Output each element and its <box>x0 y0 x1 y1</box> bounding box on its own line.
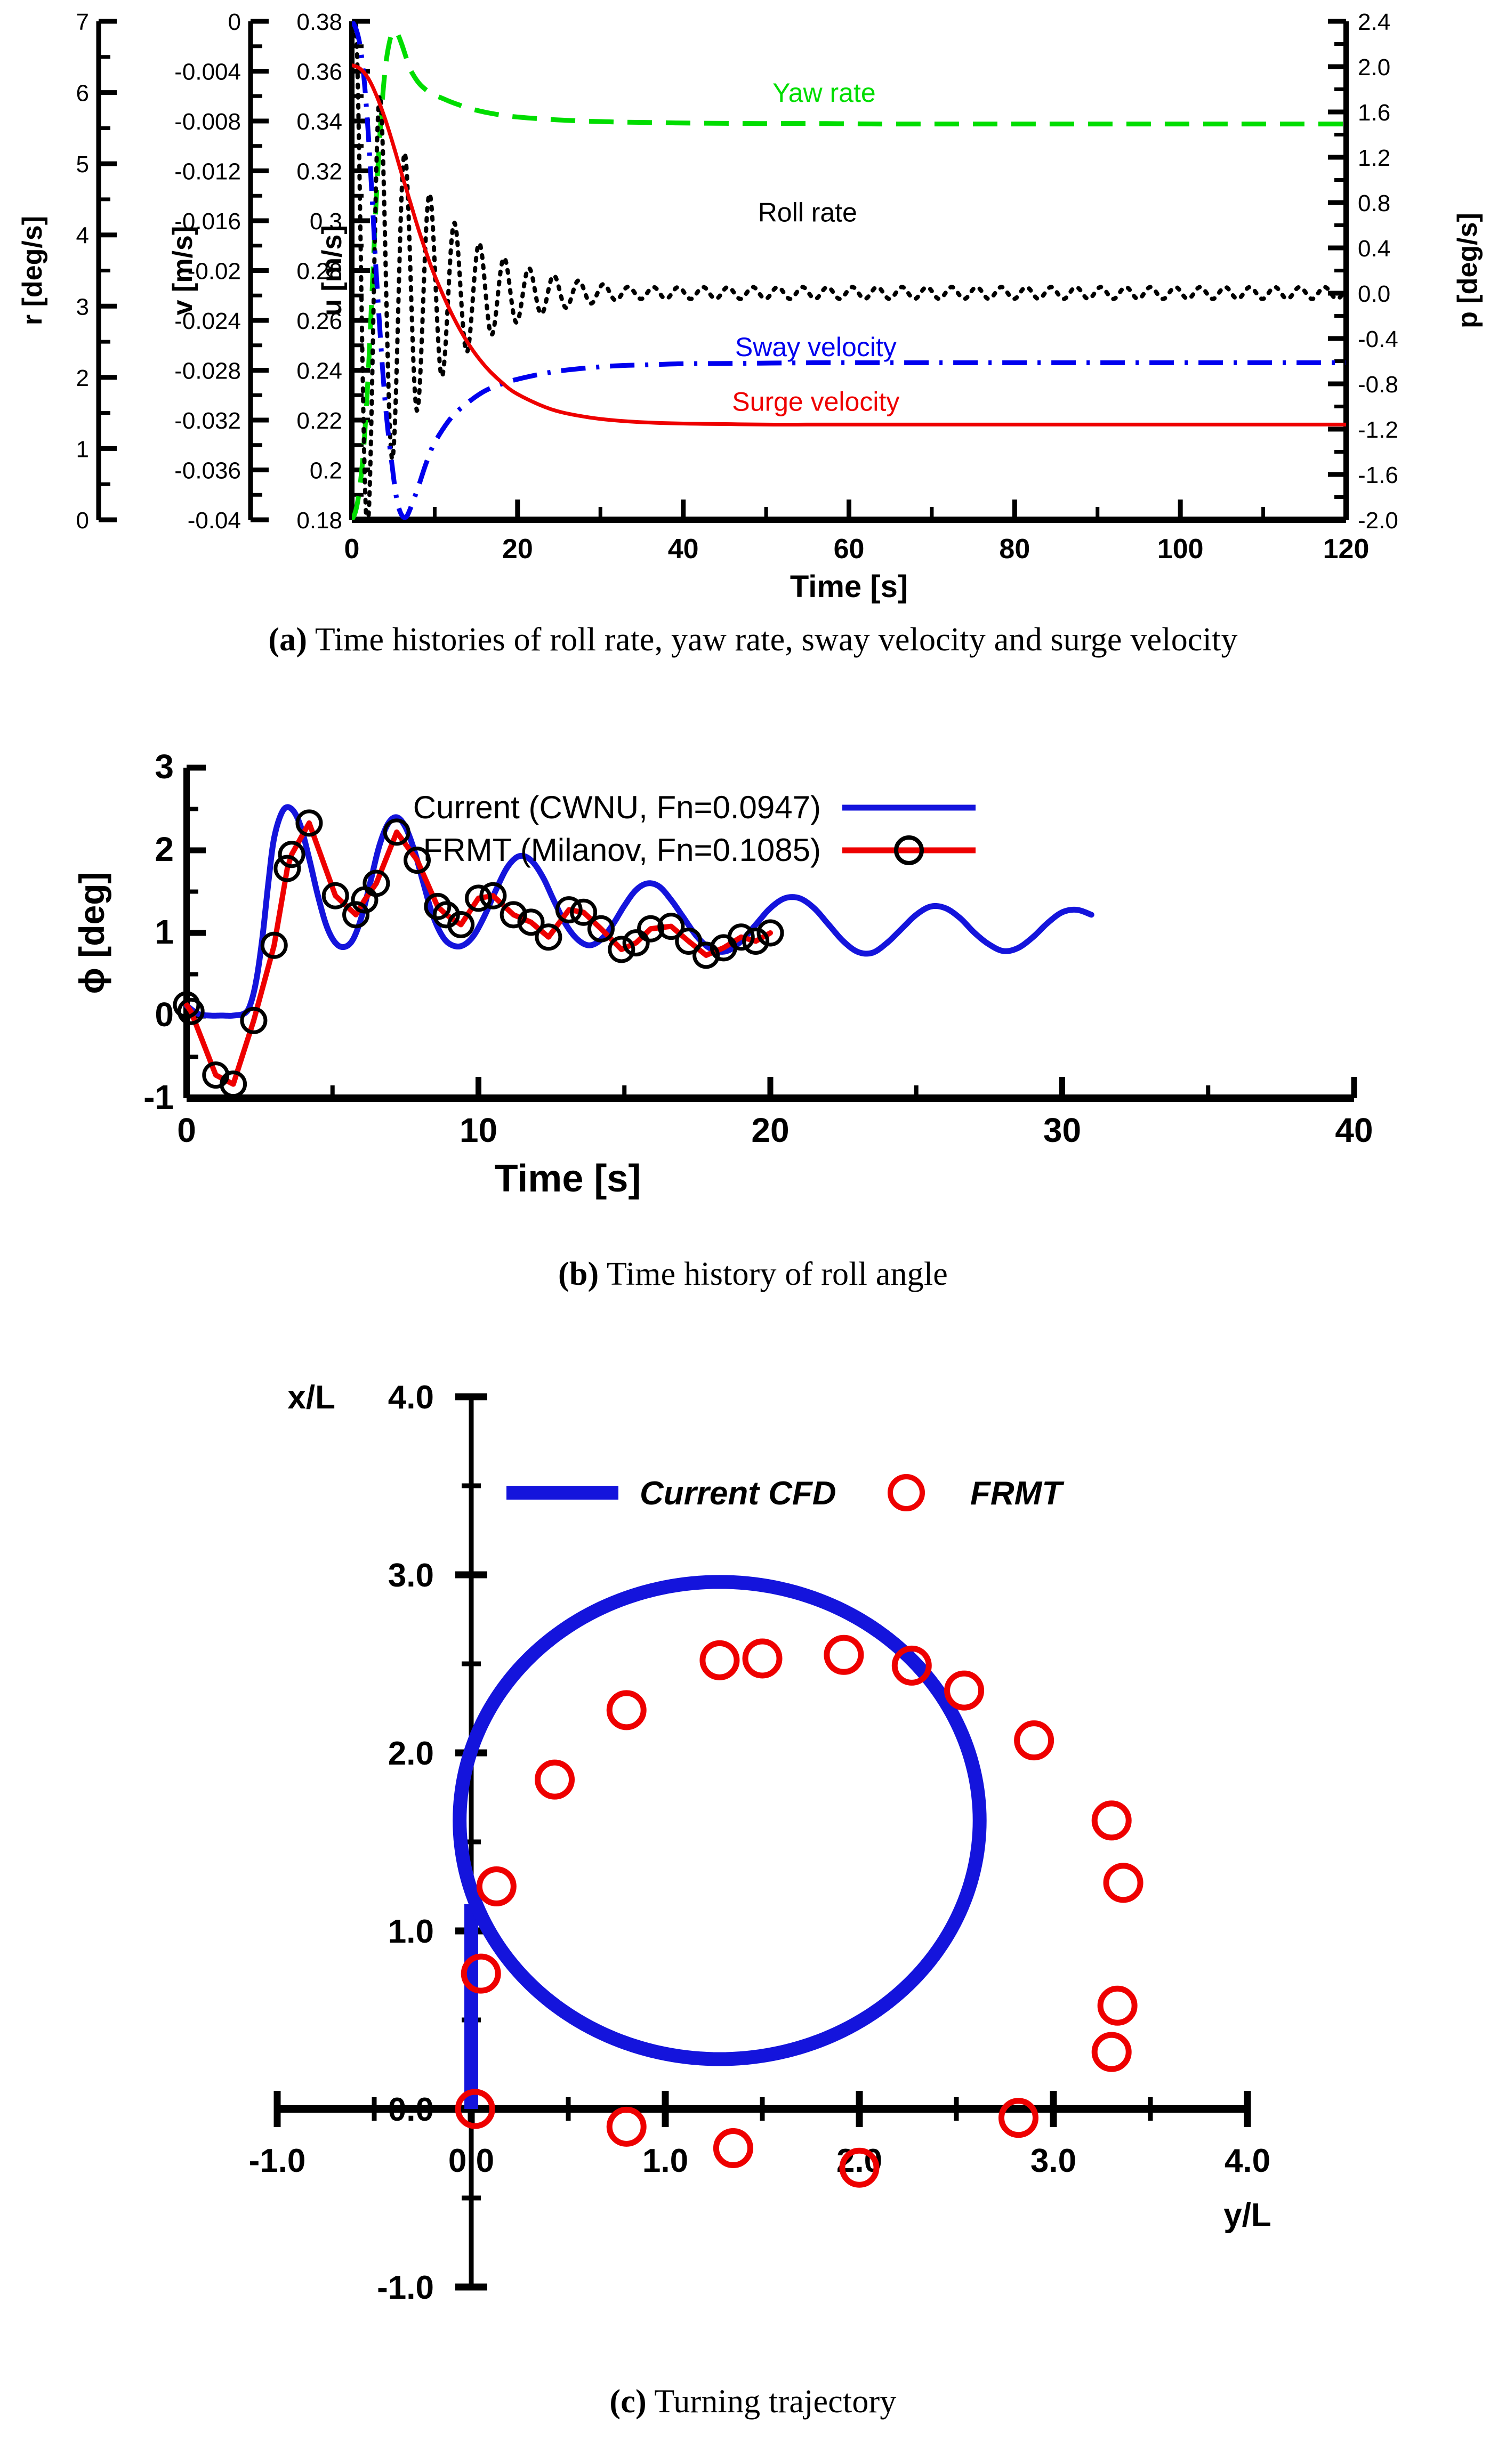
axis-tick-label-r: 6 <box>76 80 89 107</box>
axis-tick-label-x: 0 <box>344 534 360 565</box>
axis-tick-label-y: 1.0 <box>388 1913 434 1950</box>
series-marker-frmt <box>745 1641 779 1676</box>
curve-label-yaw-rate: Yaw rate <box>772 78 876 108</box>
panel-b-caption-text: Time history of roll angle <box>599 1256 948 1292</box>
axis-tick-label-u: 0.36 <box>296 59 342 85</box>
axis-tick-label-y: 0 <box>155 995 174 1034</box>
panel-a-axis-r: 01234567r [deg/s] <box>17 9 117 534</box>
panel-c-series-group <box>458 1582 1140 2185</box>
panel-a-axis-v: -0.04-0.036-0.032-0.028-0.024-0.02-0.016… <box>167 9 269 534</box>
series-marker-frmt <box>538 1762 572 1797</box>
curve-label-surge-velocity: Surge velocity <box>732 387 899 417</box>
axis-tick-label-x: 40 <box>668 534 699 565</box>
axis-tick-label-y: 2 <box>155 830 174 868</box>
axis-tick-label-x: 20 <box>502 534 533 565</box>
legend-label-current-cfd: Current CFD <box>640 1475 836 1512</box>
axis-label-x: y/L <box>1223 2197 1271 2234</box>
legend-label-frmt-milanov: FRMT (Milanov, Fn=0.1085) <box>423 832 821 868</box>
axis-tick-label-r: 7 <box>76 9 89 35</box>
axis-label-y: ϕ [deg] <box>72 872 111 994</box>
axis-label-v: v [m/s] <box>167 226 198 316</box>
panel-c-svg: -1.01.02.03.04.00.0x/L-1.00.01.02.03.04.… <box>0 1322 1506 2356</box>
curve-label-sway-velocity: Sway velocity <box>735 332 897 362</box>
panel-b-caption: (b) Time history of roll angle <box>0 1255 1506 1293</box>
axis-tick-label-v: -0.032 <box>174 408 241 434</box>
axis-label-u: u [m/s] <box>317 225 348 316</box>
axis-tick-label-p: 0.4 <box>1358 236 1390 262</box>
panel-b-svg: -10123010203040Time [s]ϕ [deg]Current (C… <box>0 693 1506 1237</box>
axis-tick-label-u: 0.22 <box>296 408 342 434</box>
axis-tick-label-x: 120 <box>1323 534 1370 565</box>
axis-tick-label-v: -0.028 <box>174 358 241 384</box>
figure-container: 01234567r [deg/s]-0.04-0.036-0.032-0.028… <box>0 0 1506 2464</box>
axis-tick-label-u: 0.38 <box>296 9 342 35</box>
panel-a-caption-prefix: (a) <box>268 622 307 658</box>
axis-tick-label-p: 2.4 <box>1358 9 1390 35</box>
series-marker-frmt <box>479 1870 513 1904</box>
panel-c-caption: (c) Turning trajectory <box>0 2383 1506 2421</box>
panel-a-chart: 01234567r [deg/s]-0.04-0.036-0.032-0.028… <box>0 0 1506 597</box>
axis-tick-label-u: 0.18 <box>296 508 342 534</box>
panel-c-axes: -1.01.02.03.04.00.0x/L-1.00.01.02.03.04.… <box>249 1379 1271 2306</box>
panel-b-chart: -10123010203040Time [s]ϕ [deg]Current (C… <box>0 693 1506 1237</box>
axis-tick-label-p: 0.0 <box>1358 281 1390 307</box>
axis-label-x: Time [s] <box>495 1157 641 1200</box>
series-marker-frmt <box>827 1638 861 1672</box>
axis-tick-label-x: 10 <box>460 1111 497 1149</box>
panel-b-caption-prefix: (b) <box>558 1256 599 1292</box>
axis-tick-label-x: 0 <box>177 1111 196 1149</box>
series-marker-frmt <box>703 1643 737 1677</box>
legend-swatch-frmt <box>890 1477 922 1509</box>
axis-tick-label-p: 2.0 <box>1358 54 1390 80</box>
axis-tick-label-x: 0.0 <box>448 2143 494 2179</box>
series-marker-frmt <box>947 1673 981 1708</box>
axis-tick-label-x: -1.0 <box>249 2143 306 2179</box>
axis-tick-label-p: -1.2 <box>1358 417 1398 443</box>
axis-tick-label-p: 0.8 <box>1358 190 1390 216</box>
axis-tick-label-p: -1.6 <box>1358 462 1398 488</box>
axis-label-y: x/L <box>287 1379 335 1416</box>
axis-tick-label-y: 0.0 <box>388 2091 434 2128</box>
series-marker-frmt <box>716 2131 750 2165</box>
panel-c-chart: -1.01.02.03.04.00.0x/L-1.00.01.02.03.04.… <box>0 1322 1506 2356</box>
axis-tick-label-r: 1 <box>76 436 89 462</box>
axis-tick-label-p: -0.8 <box>1358 372 1398 398</box>
axis-tick-label-p: 1.2 <box>1358 145 1390 171</box>
axis-tick-label-u: 0.34 <box>296 109 342 135</box>
axis-label-p: p [deg/s] <box>1452 213 1483 328</box>
legend-label-frmt: FRMT <box>970 1475 1065 1512</box>
axis-tick-label-v: -0.036 <box>174 458 241 484</box>
axis-tick-label-v: -0.008 <box>174 109 241 135</box>
axis-tick-label-r: 0 <box>76 508 89 534</box>
axis-tick-label-v: -0.004 <box>174 59 241 85</box>
series-marker-frmt <box>1100 1988 1134 2023</box>
series-marker-frmt <box>609 1693 643 1727</box>
legend-label-current-cwnu: Current (CWNU, Fn=0.0947) <box>413 790 821 825</box>
axis-tick-label-u: 0.24 <box>296 358 342 384</box>
panel-c-caption-prefix: (c) <box>609 2384 646 2420</box>
axis-tick-label-x: 30 <box>1043 1111 1081 1149</box>
series-marker-frmt <box>1094 1803 1129 1838</box>
panel-c-caption-text: Turning trajectory <box>647 2384 897 2420</box>
axis-tick-label-y: 4.0 <box>388 1379 434 1416</box>
axis-tick-label-y: 3 <box>155 747 174 786</box>
series-line-surge-velocity <box>352 65 1346 424</box>
axis-tick-label-x: 40 <box>1335 1111 1373 1149</box>
panel-a-caption: (a) Time histories of roll rate, yaw rat… <box>0 621 1506 659</box>
axis-tick-label-x: 80 <box>999 534 1030 565</box>
axis-tick-label-y: 2.0 <box>388 1735 434 1772</box>
axis-tick-label-x: 4.0 <box>1225 2143 1270 2179</box>
axis-tick-label-v: -0.04 <box>188 508 241 534</box>
axis-tick-label-v: 0 <box>228 9 241 35</box>
panel-a-axis-x: 020406080100120Time [s] <box>344 500 1370 604</box>
axis-label-r: r [deg/s] <box>17 216 48 325</box>
axis-tick-label-v: -0.012 <box>174 159 241 185</box>
panel-c-legend: Current CFDFRMT <box>506 1475 1065 1512</box>
panel-a-svg: 01234567r [deg/s]-0.04-0.036-0.032-0.028… <box>0 0 1506 597</box>
axis-tick-label-y: -1 <box>143 1078 174 1116</box>
axis-tick-label-x: 1.0 <box>642 2143 688 2179</box>
panel-a-caption-text: Time histories of roll rate, yaw rate, s… <box>307 622 1237 658</box>
axis-tick-label-x: 3.0 <box>1030 2143 1076 2179</box>
axis-tick-label-r: 2 <box>76 365 89 391</box>
panel-a-axis-p: -2.0-1.6-1.2-0.8-0.40.00.40.81.21.62.02.… <box>1328 9 1483 534</box>
axis-tick-label-r: 5 <box>76 151 89 178</box>
axis-tick-label-p: 1.6 <box>1358 100 1390 126</box>
axis-tick-label-r: 3 <box>76 294 89 320</box>
axis-tick-label-x: 60 <box>834 534 865 565</box>
axis-tick-label-y: 1 <box>155 913 174 951</box>
axis-tick-label-p: -2.0 <box>1358 508 1398 534</box>
axis-tick-label-x: 20 <box>751 1111 789 1149</box>
axis-tick-label-u: 0.32 <box>296 159 342 185</box>
axis-label-x: Time [s] <box>790 569 908 604</box>
axis-tick-label-y: 3.0 <box>388 1557 434 1594</box>
series-marker-frmt <box>609 2109 643 2144</box>
axis-tick-label-r: 4 <box>76 223 89 249</box>
axis-tick-label-x: 100 <box>1157 534 1204 565</box>
panel-b-legend: Current (CWNU, Fn=0.0947)FRMT (Milanov, … <box>413 790 976 868</box>
axis-tick-label-y: -1.0 <box>377 2269 434 2306</box>
series-marker-frmt <box>1094 2035 1129 2069</box>
series-marker-frmt <box>1106 1866 1140 1900</box>
curve-label-roll-rate: Roll rate <box>758 197 857 227</box>
series-marker-frmt <box>1017 1724 1051 1758</box>
axis-tick-label-u: 0.2 <box>310 458 342 484</box>
axis-tick-label-p: -0.4 <box>1358 326 1398 352</box>
